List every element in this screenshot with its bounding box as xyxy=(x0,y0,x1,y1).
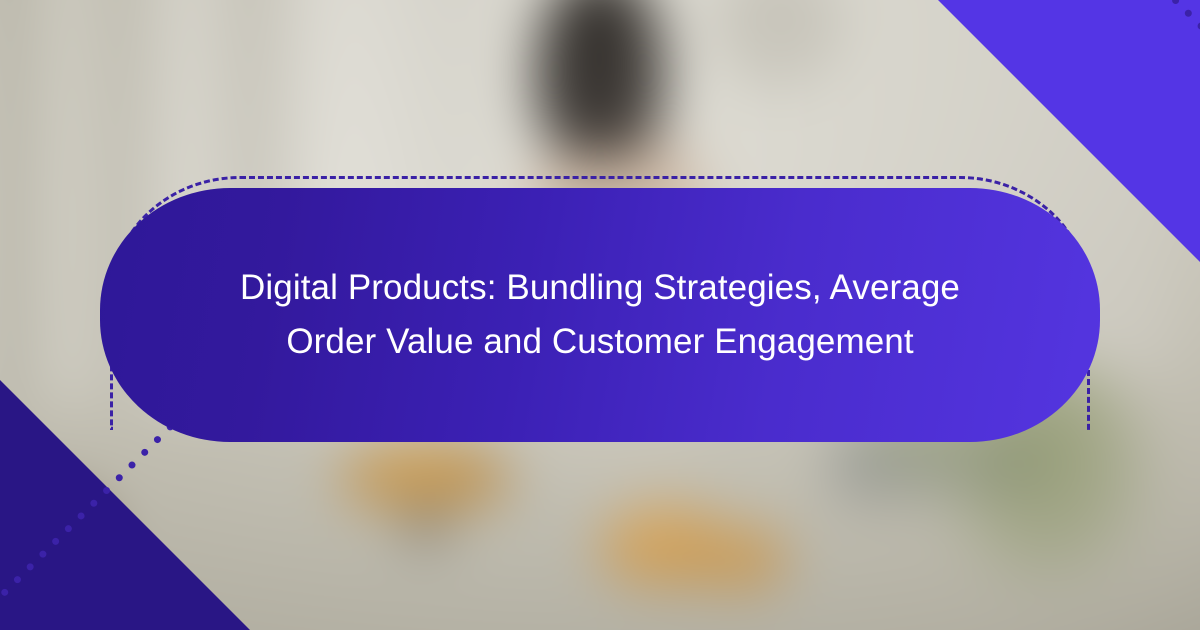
title-badge-wrapper: Digital Products: Bundling Strategies, A… xyxy=(100,188,1100,442)
banner-canvas: Digital Products: Bundling Strategies, A… xyxy=(0,0,1200,630)
title-badge: Digital Products: Bundling Strategies, A… xyxy=(100,188,1100,442)
page-title: Digital Products: Bundling Strategies, A… xyxy=(190,261,1010,370)
